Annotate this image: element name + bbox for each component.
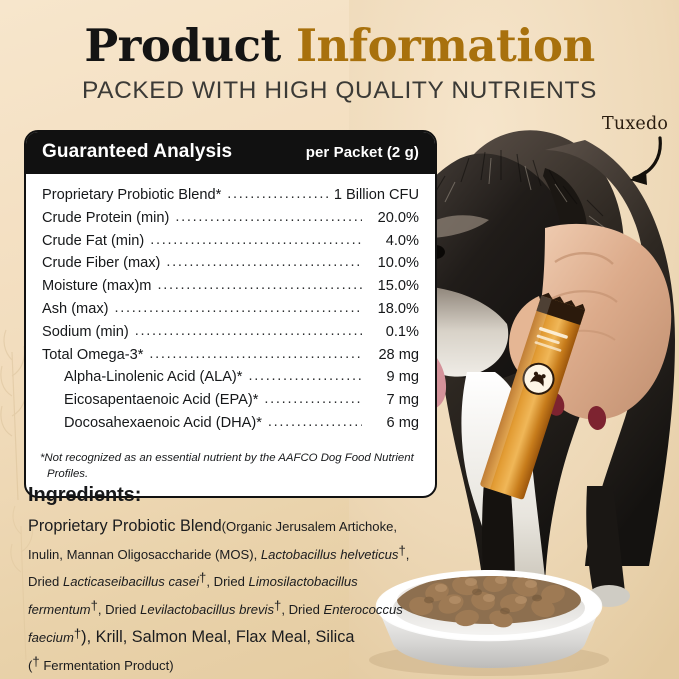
ingredients-line4-mid2: , Dried xyxy=(281,602,323,617)
analysis-row: Sodium (min) ...........................… xyxy=(42,321,419,344)
nutrient-value: 28 mg xyxy=(367,348,419,363)
leader-dots: ........................................… xyxy=(149,347,362,362)
ingredients-open-paren: (Organic Jerusalem Artichoke, xyxy=(222,519,397,534)
leader-dots: ........................................… xyxy=(268,415,362,430)
nutrient-label: Crude Fiber (max) xyxy=(42,256,160,271)
analysis-row: Ash (max) ..............................… xyxy=(42,298,419,321)
curved-arrow-down-left-icon xyxy=(600,134,670,190)
ingredients-species-4: Levilactobacillus brevis xyxy=(140,602,274,617)
nutrient-label: Crude Fat (min) xyxy=(42,234,144,249)
nutrient-label: Moisture (max)m xyxy=(42,279,151,294)
ingredients-species-3: Limosilactobacillus xyxy=(249,575,358,590)
analysis-row: Crude Protein (min) ....................… xyxy=(42,207,419,230)
nutrient-label: Eicosapentaenoic Acid (EPA)* xyxy=(64,393,258,408)
ingredients-lead: Proprietary Probiotic Blend xyxy=(28,517,222,535)
leader-dots: ........................................… xyxy=(227,187,329,202)
nutrient-label: Alpha-Linolenic Acid (ALA)* xyxy=(64,370,242,385)
ingredients-line5-post: ), Krill, Salmon Meal, Flax Meal, Silica xyxy=(81,628,354,646)
analysis-row: Moisture (max)m ........................… xyxy=(42,275,419,298)
nutrient-value: 20.0% xyxy=(367,211,419,226)
analysis-row: Total Omega-3* .........................… xyxy=(42,343,419,366)
nutrient-label: Total Omega-3* xyxy=(42,348,143,363)
analysis-row: Crude Fat (min) ........................… xyxy=(42,230,419,253)
ingredients-title: Ingredients: xyxy=(28,484,428,507)
analysis-card-header: Guaranteed Analysis per Packet (2 g) xyxy=(26,132,435,174)
analysis-rows: Proprietary Probiotic Blend* ...........… xyxy=(26,174,435,441)
dog-name-label: Tuxedo xyxy=(602,114,668,134)
guaranteed-analysis-card: Guaranteed Analysis per Packet (2 g) Pro… xyxy=(24,130,437,498)
ingredients-species-3b: fermentum xyxy=(28,602,91,617)
nutrient-label: Proprietary Probiotic Blend* xyxy=(42,188,221,203)
nutrient-value: 10.0% xyxy=(367,256,419,271)
nutrient-value: 6 mg xyxy=(367,416,419,431)
serving-size-label: per Packet (2 g) xyxy=(306,144,419,161)
leader-dots: ........................................… xyxy=(157,278,362,293)
dagger-mark: † xyxy=(91,598,98,613)
ingredients-species-5b: faecium xyxy=(28,630,74,645)
ingredients-line3-pre: Dried xyxy=(28,575,63,590)
page-title: Product Information xyxy=(0,22,679,69)
product-information-page: Product Information PACKED WITH HIGH QUA… xyxy=(0,0,679,679)
leader-dots: ........................................… xyxy=(115,301,363,316)
leader-dots: ........................................… xyxy=(248,369,362,384)
ingredients-species-5: Enterococcus xyxy=(324,602,403,617)
dagger-mark: † xyxy=(398,543,405,558)
title-word-product: Product xyxy=(84,19,280,72)
dagger-mark: † xyxy=(32,654,39,669)
analysis-row-sub: Alpha-Linolenic Acid (ALA)* ............… xyxy=(42,366,419,389)
nutrient-label: Docosahexaenoic Acid (DHA)* xyxy=(64,416,262,431)
ingredients-line2-post: , xyxy=(406,547,410,562)
nutrient-value: 0.1% xyxy=(367,325,419,340)
leader-dots: ........................................… xyxy=(150,233,362,248)
nutrient-label: Ash (max) xyxy=(42,302,109,317)
analysis-heading: Guaranteed Analysis xyxy=(42,141,232,163)
fermentation-note-text: Fermentation Product) xyxy=(43,658,173,673)
dog-name-callout: Tuxedo xyxy=(602,114,668,134)
page-subtitle: PACKED WITH HIGH QUALITY NUTRIENTS xyxy=(0,77,679,105)
title-word-information: Information xyxy=(296,19,595,72)
nutrient-value: 9 mg xyxy=(367,370,419,385)
leader-dots: ........................................… xyxy=(175,210,362,225)
leader-dots: ........................................… xyxy=(135,324,362,339)
nutrient-label: Sodium (min) xyxy=(42,325,129,340)
nutrient-value: 15.0% xyxy=(367,279,419,294)
ingredients-line4-mid: , Dried xyxy=(98,602,140,617)
nutrient-label: Crude Protein (min) xyxy=(42,211,169,226)
leader-dots: ........................................… xyxy=(166,255,362,270)
ingredients-section: Ingredients: Proprietary Probiotic Blend… xyxy=(28,484,428,679)
page-header: Product Information PACKED WITH HIGH QUA… xyxy=(0,0,679,105)
analysis-row: Proprietary Probiotic Blend* ...........… xyxy=(42,184,419,207)
analysis-row: Crude Fiber (max) ......................… xyxy=(42,252,419,275)
leader-dots: ........................................… xyxy=(264,392,362,407)
ingredients-line3-mid: , Dried xyxy=(206,575,248,590)
analysis-row-sub: Eicosapentaenoic Acid (EPA)* ...........… xyxy=(42,389,419,412)
ingredients-text: Proprietary Probiotic Blend(Organic Jeru… xyxy=(28,513,428,679)
nutrient-value: 1 Billion CFU xyxy=(334,188,419,203)
ingredients-line2-pre: Inulin, Mannan Oligosaccharide (MOS), xyxy=(28,547,261,562)
ingredients-species-2: Lacticaseibacillus casei xyxy=(63,575,199,590)
nutrient-value: 4.0% xyxy=(367,234,419,249)
ingredients-species-1: Lactobacillus helveticus xyxy=(261,547,399,562)
analysis-row-sub: Docosahexaenoic Acid (DHA)* ............… xyxy=(42,412,419,435)
nutrient-value: 7 mg xyxy=(367,393,419,408)
nutrient-value: 18.0% xyxy=(367,302,419,317)
